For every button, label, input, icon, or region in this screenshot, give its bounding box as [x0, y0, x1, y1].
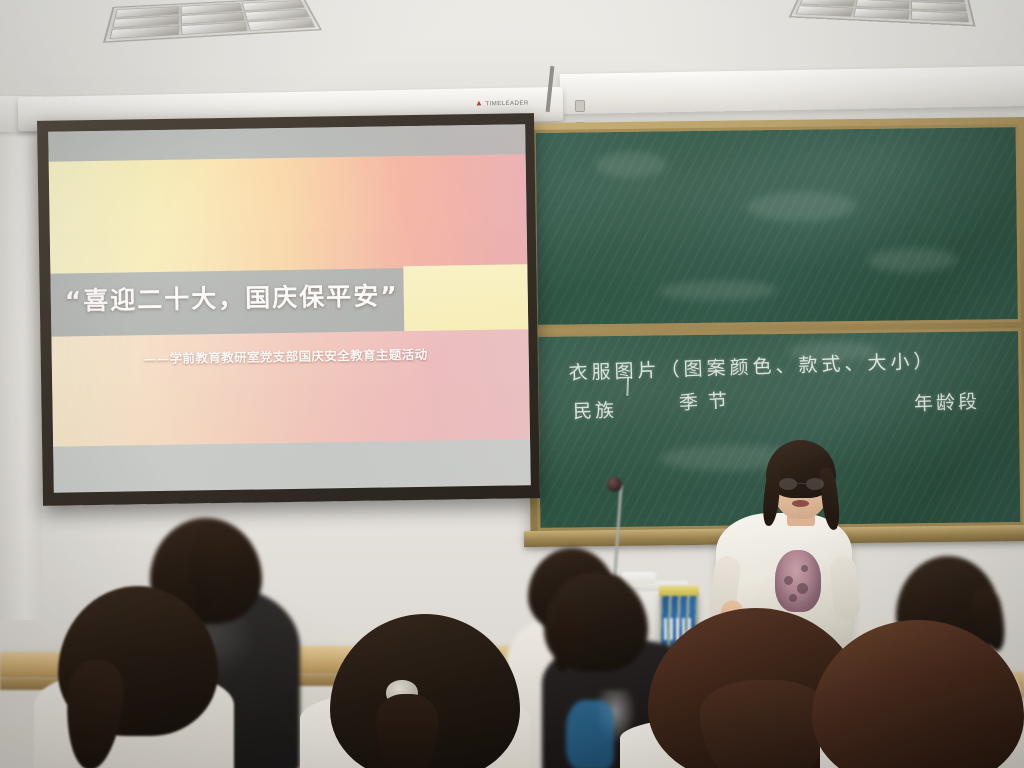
- student-8-ponytail: [700, 680, 830, 768]
- eyeglasses-icon: [779, 478, 824, 490]
- chalkboard-line-2c: 年龄段: [913, 386, 980, 416]
- chalkboard-line-2b: 季节: [678, 385, 737, 415]
- teacher-mouth: [792, 500, 809, 507]
- snack-package-top: [659, 586, 699, 596]
- classroom-photo: ▲TIMELEADER 衣服图片（图案颜色、款式、大小） 民族 季节: [0, 0, 1024, 768]
- student-5-bag-strap: [566, 700, 614, 768]
- brand-name: TIMELEADER: [485, 100, 528, 107]
- wall-bracket: [575, 100, 585, 112]
- microphone-head-icon: [607, 477, 622, 492]
- slide-band-bottom: [53, 439, 531, 491]
- screen-housing-right: [560, 66, 1024, 114]
- chalkboard-line-2a: 民族: [573, 395, 618, 423]
- screen-border: “喜迎二十大，国庆保平安” ——学前教育教研室党支部国庆安全教育主题活动: [37, 113, 540, 506]
- chalkboard-tick-mark: [626, 377, 629, 395]
- podium-items: [622, 572, 656, 584]
- projected-slide: “喜迎二十大，国庆保平安” ——学前教育教研室党支部国庆安全教育主题活动: [48, 124, 531, 492]
- wall-pillar: [0, 120, 42, 620]
- slide-title: “喜迎二十大，国庆保平安”: [65, 276, 409, 317]
- projection-screen: “喜迎二十大，国庆保平安” ——学前教育教研室党支部国庆安全教育主题活动: [37, 113, 540, 506]
- slide-accent-block: [403, 264, 528, 333]
- teacher-shirt-print: [775, 550, 821, 612]
- brand-mark-icon: ▲: [475, 98, 484, 107]
- chalkboard-panel-upper: [533, 124, 1021, 327]
- chalkboard-line-1: 衣服图片（图案颜色、款式、大小）: [568, 346, 937, 385]
- screen-brand-logo: ▲TIMELEADER: [475, 97, 529, 107]
- student-3-ponytail: [376, 694, 438, 768]
- slide-band-gradient: [49, 154, 528, 273]
